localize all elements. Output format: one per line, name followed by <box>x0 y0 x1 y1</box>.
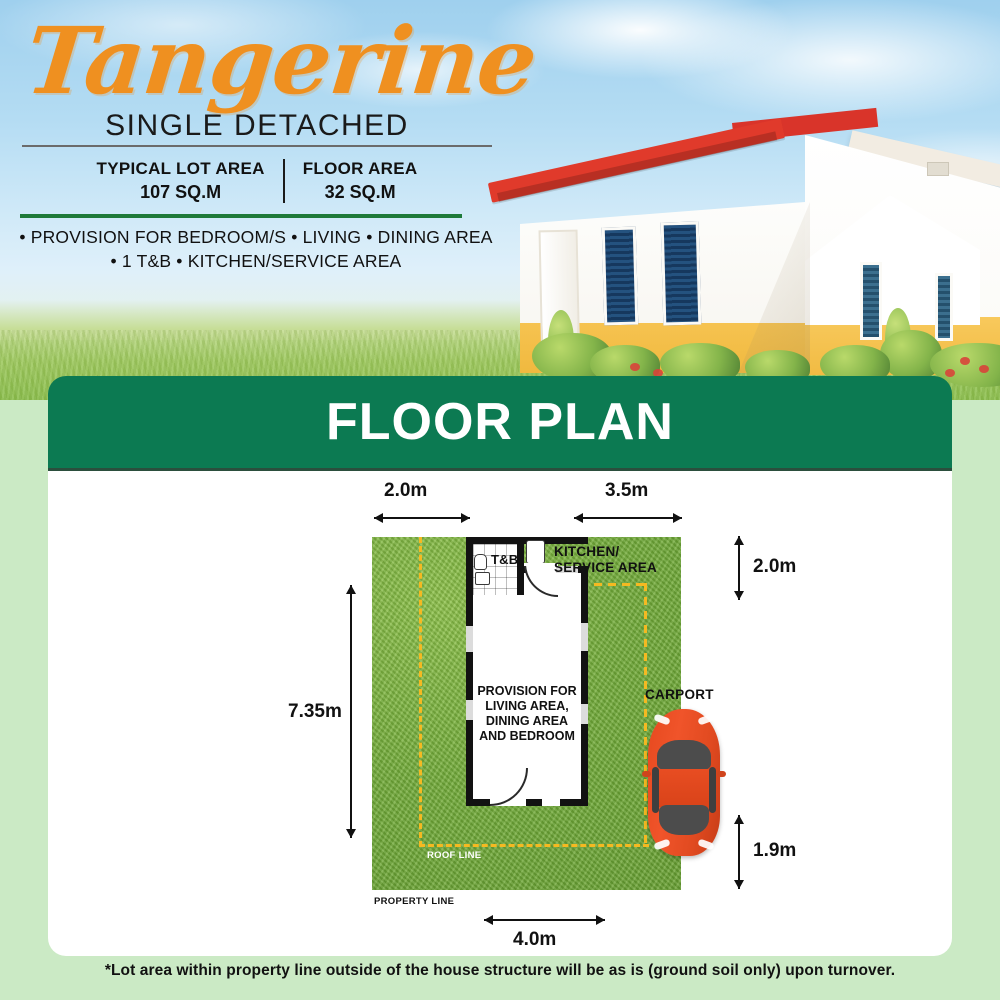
lot-area-label: TYPICAL LOT AREA <box>97 159 265 179</box>
wall-segment-right <box>581 665 588 683</box>
label-living-line2: LIVING AREA, <box>467 699 587 714</box>
dimension-left-label: 7.35m <box>288 701 342 723</box>
features-line-1: • PROVISION FOR BEDROOM/S • LIVING • DIN… <box>16 226 496 250</box>
flower-icon <box>945 369 955 377</box>
label-roof-line: ROOF LINE <box>427 850 481 861</box>
dimension-top-left-label: 2.0m <box>384 480 427 502</box>
floor-plan-drawing: T&B KITCHEN/ SERVICE AREA PROVISION FOR … <box>48 468 952 956</box>
car-illustration <box>648 709 720 856</box>
car-side-window-left <box>652 767 659 813</box>
floor-plan-title: FLOOR PLAN <box>326 392 674 452</box>
label-carport: CARPORT <box>645 687 714 703</box>
label-kitchen-line2: SERVICE AREA <box>554 560 657 576</box>
roof-shadow <box>497 131 777 201</box>
label-kitchen: KITCHEN/ SERVICE AREA <box>554 544 657 576</box>
brand-name: Tangerine <box>0 0 531 105</box>
spec-row: TYPICAL LOT AREA 107 SQ.M FLOOR AREA 32 … <box>22 159 492 203</box>
label-kitchen-line1: KITCHEN/ <box>554 544 657 560</box>
window-opening-left-1 <box>466 626 473 652</box>
dimension-right-bottom-label: 1.9m <box>753 840 796 862</box>
lot-area-value: 107 SQ.M <box>97 182 265 203</box>
car-mirror-left <box>642 771 651 777</box>
flower-icon <box>979 365 989 373</box>
disclaimer-note: *Lot area within property line outside o… <box>0 962 1000 980</box>
label-property-line: PROPERTY LINE <box>374 896 454 907</box>
window-opening-right-1 <box>581 623 588 651</box>
label-living-line3: DINING AREA <box>467 714 587 729</box>
car-side-window-right <box>709 767 716 813</box>
dimension-right-top-arrow <box>738 536 740 600</box>
label-living-line4: AND BEDROOM <box>467 729 587 744</box>
floor-area-label: FLOOR AREA <box>303 159 418 179</box>
title-block: Tangerine SINGLE DETACHED TYPICAL LOT AR… <box>0 0 520 274</box>
car-mirror-right <box>717 771 726 777</box>
car-rear-window <box>659 805 709 835</box>
house-window-1 <box>602 227 639 326</box>
toilet-fixture-icon <box>474 554 487 570</box>
house-window-3 <box>860 262 882 340</box>
features-list: • PROVISION FOR BEDROOM/S • LIVING • DIN… <box>16 226 496 273</box>
hero-banner: Tangerine SINGLE DETACHED TYPICAL LOT AR… <box>0 0 1000 400</box>
dimension-top-right-arrow <box>574 517 682 519</box>
house-photo-illustration <box>490 105 1000 370</box>
dimension-left-arrow <box>350 585 352 838</box>
house-window-4 <box>935 273 953 341</box>
sink-fixture-icon <box>475 572 490 585</box>
floor-plan-card: T&B KITCHEN/ SERVICE AREA PROVISION FOR … <box>48 468 952 956</box>
green-divider <box>20 214 462 218</box>
label-tb: T&B <box>491 552 518 568</box>
features-line-2: • 1 T&B • KITCHEN/SERVICE AREA <box>16 250 496 274</box>
lot-area-column: TYPICAL LOT AREA 107 SQ.M <box>79 159 283 203</box>
floor-area-column: FLOOR AREA 32 SQ.M <box>283 159 436 203</box>
roof-line-segment-right-lower <box>644 583 647 845</box>
house-vent <box>927 162 949 176</box>
dimension-right-bottom-arrow <box>738 815 740 889</box>
flower-icon <box>630 363 640 371</box>
dimension-top-left-arrow <box>374 517 470 519</box>
house-window-2 <box>661 222 702 326</box>
dimension-bottom-label: 4.0m <box>513 929 556 951</box>
label-living-line1: PROVISION FOR <box>467 684 587 699</box>
dimension-top-right-label: 3.5m <box>605 480 648 502</box>
floor-plan-banner: FLOOR PLAN <box>48 376 952 468</box>
floor-area-value: 32 SQ.M <box>303 182 418 203</box>
dimension-right-top-label: 2.0m <box>753 556 796 578</box>
car-roof <box>659 769 709 807</box>
label-living-area: PROVISION FOR LIVING AREA, DINING AREA A… <box>467 684 587 744</box>
shower-fixture-icon <box>526 540 545 564</box>
car-windshield <box>657 740 711 770</box>
flower-icon <box>960 357 970 365</box>
front-wall-opening <box>542 799 560 806</box>
tb-door-leaf <box>524 563 556 566</box>
dimension-bottom-arrow <box>484 919 605 921</box>
